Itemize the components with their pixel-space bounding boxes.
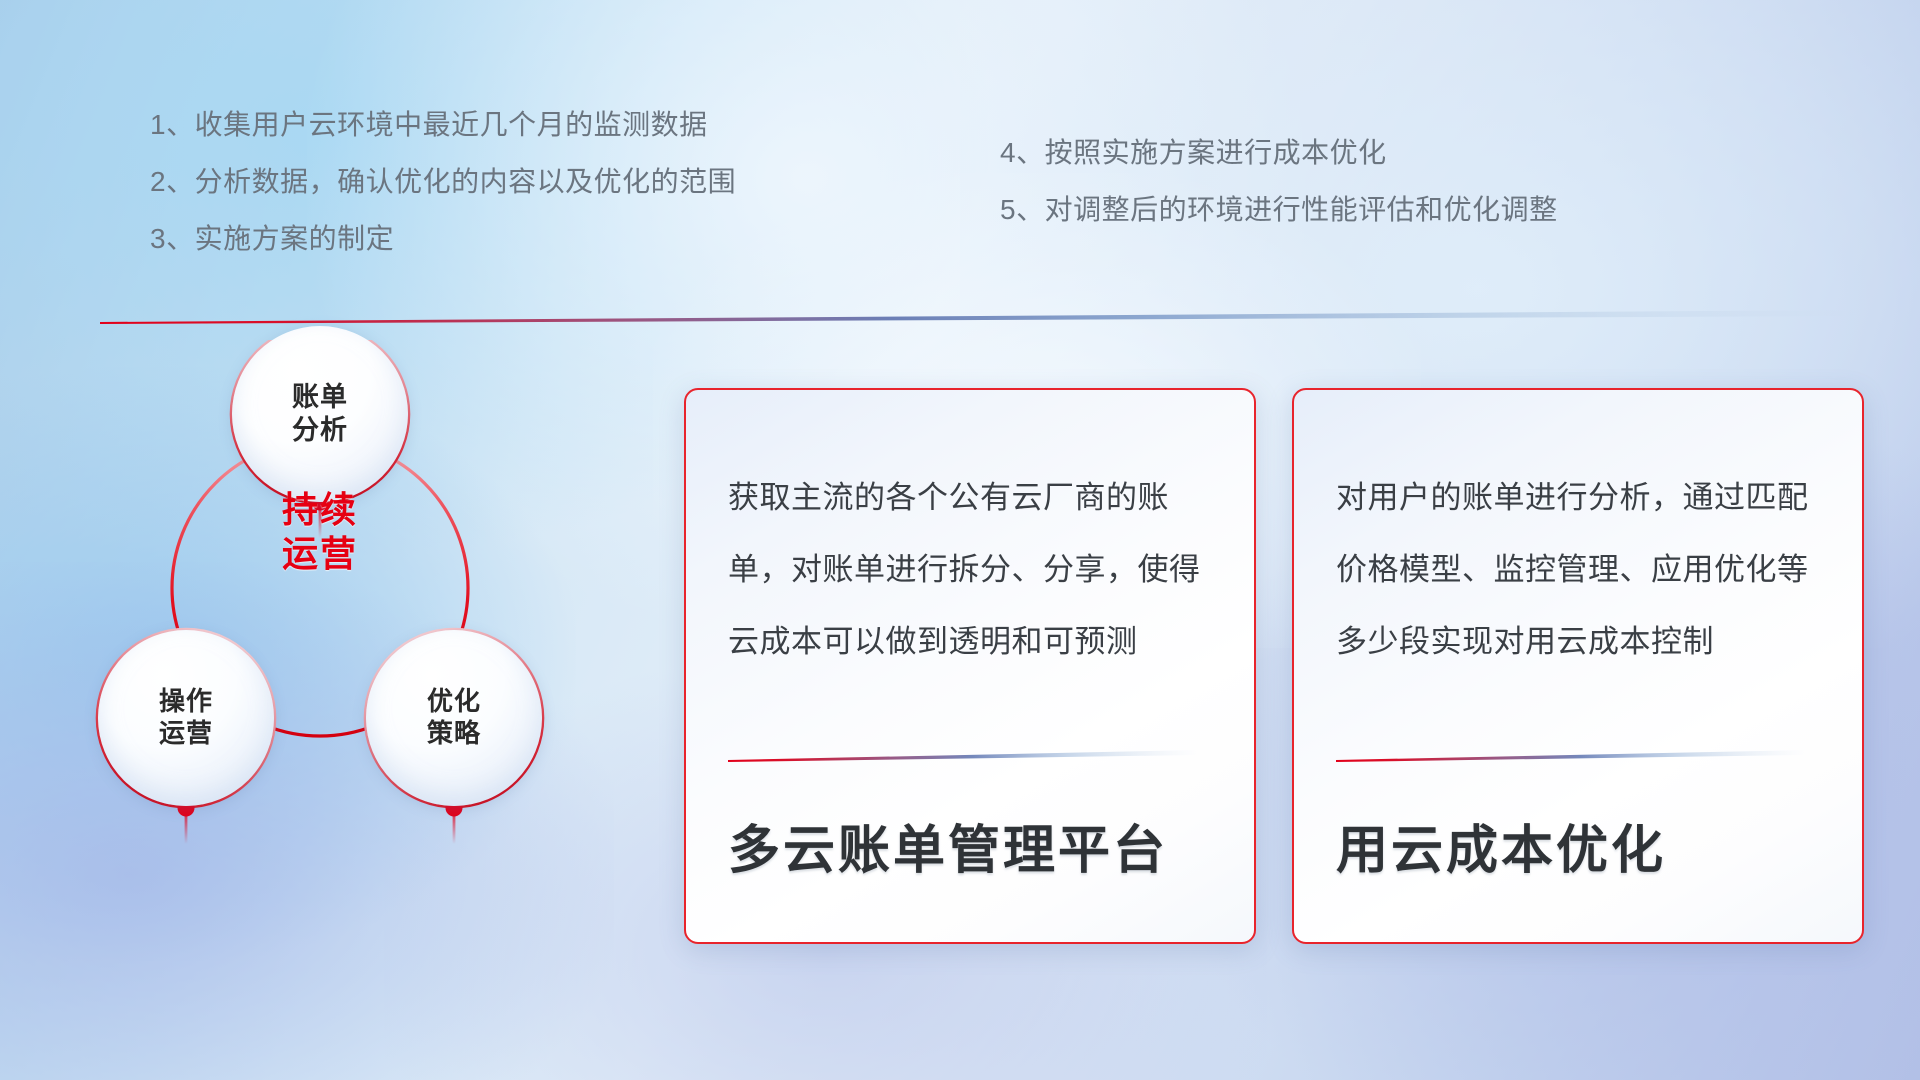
card-title: 多云账单管理平台: [728, 808, 1224, 883]
cycle-node-operation[interactable]: 操作 运营: [98, 630, 274, 806]
cycle-center-label-line2: 运营: [282, 533, 358, 574]
step-item-5: 5、对调整后的环境进行性能评估和优化调整: [1000, 181, 1558, 238]
continuous-operations-diagram: 账单 分析 操作 运营 优化 策略 持续 运营: [90, 340, 610, 960]
step-item-1: 1、收集用户云环境中最近几个月的监测数据: [150, 96, 736, 153]
steps-left-column: 1、收集用户云环境中最近几个月的监测数据 2、分析数据，确认优化的内容以及优化的…: [150, 96, 736, 267]
card-multi-cloud-billing-platform[interactable]: 获取主流的各个公有云厂商的账单，对账单进行拆分、分享，使得云成本可以做到透明和可…: [684, 388, 1256, 944]
step-item-2: 2、分析数据，确认优化的内容以及优化的范围: [150, 153, 736, 210]
card-cloud-cost-optimization[interactable]: 对用户的账单进行分析，通过匹配价格模型、监控管理、应用优化等多少段实现对用云成本…: [1292, 388, 1864, 944]
card-body-text: 对用户的账单进行分析，通过匹配价格模型、监控管理、应用优化等多少段实现对用云成本…: [1336, 462, 1826, 678]
cycle-node-label-line2: 分析: [292, 415, 348, 445]
cycle-node-label: 优化 策略: [427, 686, 481, 749]
section-divider-line: [100, 310, 1860, 324]
cycle-node-label-line1: 操作: [159, 686, 213, 716]
cycle-node-label-line1: 账单: [292, 382, 348, 412]
cycle-node-bill-analysis[interactable]: 账单 分析: [232, 326, 408, 502]
cycle-center-label: 持续 运营: [240, 488, 400, 576]
cycle-node-label: 操作 运营: [159, 686, 213, 749]
cycle-node-optimization-strategy[interactable]: 优化 策略: [366, 630, 542, 806]
cycle-node-label: 账单 分析: [292, 381, 348, 447]
card-body-text: 获取主流的各个公有云厂商的账单，对账单进行拆分、分享，使得云成本可以做到透明和可…: [728, 462, 1218, 678]
cycle-node-label-line2: 运营: [159, 718, 213, 748]
card-divider-line: [1336, 750, 1806, 762]
cycle-node-label-line2: 策略: [427, 718, 481, 748]
cycle-center-label-line1: 持续: [282, 489, 358, 530]
steps-right-column: 4、按照实施方案进行成本优化 5、对调整后的环境进行性能评估和优化调整: [1000, 124, 1558, 238]
step-item-3: 3、实施方案的制定: [150, 210, 736, 267]
step-item-4: 4、按照实施方案进行成本优化: [1000, 124, 1558, 181]
cycle-node-label-line1: 优化: [427, 686, 481, 716]
card-title: 用云成本优化: [1336, 808, 1832, 883]
card-divider-line: [728, 750, 1198, 762]
